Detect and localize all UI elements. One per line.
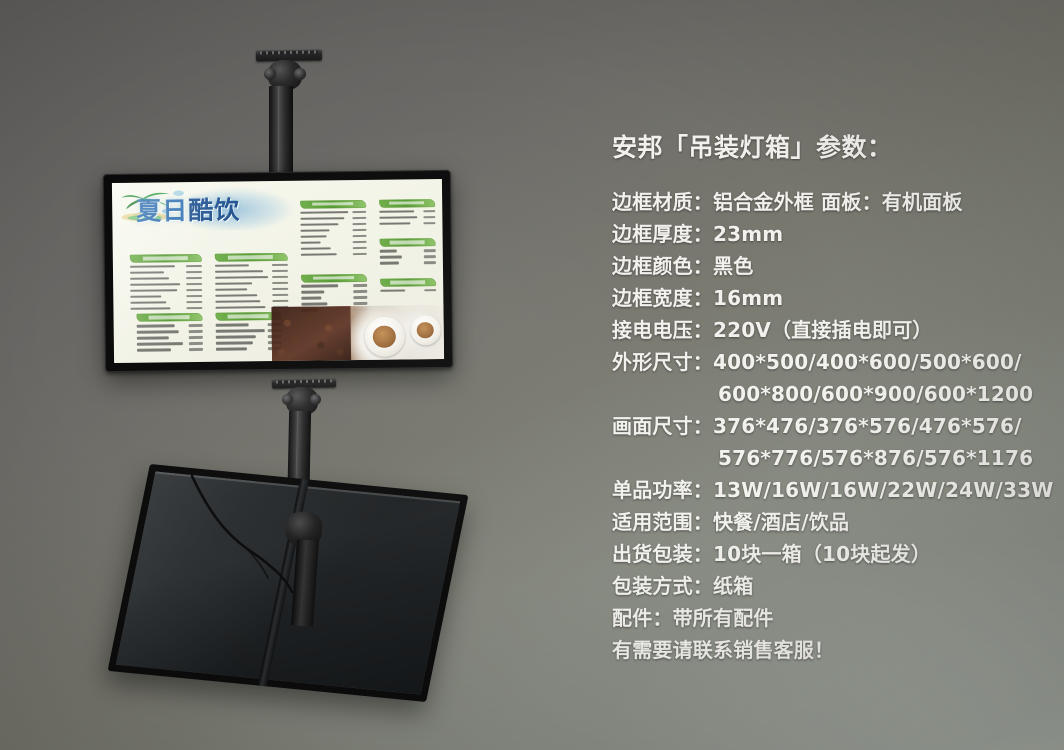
- menu-section-header: [380, 238, 436, 247]
- spec-line: 边框宽度：16mm: [612, 282, 1042, 314]
- menu-row: [129, 270, 202, 275]
- spec-panel: 安邦「吊装灯箱」参数： 边框材质：铝合金外框 面板：有机面板边框厚度：23mm边…: [612, 128, 1042, 666]
- poster-title: 夏日酷饮: [136, 191, 240, 228]
- lightbox-rear-frame: [108, 464, 469, 702]
- menu-row: [301, 240, 367, 245]
- pivot-bolt-upper-right: [294, 68, 306, 80]
- menu-section: [129, 254, 202, 313]
- spec-line: 配件：带所有配件: [612, 602, 1042, 634]
- menu-row: [130, 276, 203, 281]
- menu-item-rows: [300, 210, 367, 257]
- menu-item-rows: [380, 209, 436, 226]
- menu-row: [301, 234, 367, 239]
- coffee-liquid: [417, 322, 434, 339]
- poster-header-art: 夏日酷饮: [112, 181, 298, 248]
- menu-row: [215, 281, 288, 286]
- product-photo-scene: 夏日酷饮: [0, 0, 1064, 750]
- menu-row: [300, 216, 366, 221]
- spec-title: 安邦「吊装灯箱」参数：: [612, 128, 1042, 164]
- spec-line: 有需要请联系销售客服！: [612, 634, 1042, 666]
- poster-title-part1: 夏日: [136, 196, 188, 226]
- ceiling-plate-holes-upper: [260, 50, 318, 54]
- ceiling-lightbox-front: 夏日酷饮: [103, 170, 453, 372]
- spec-line: 单品功率：13W/16W/16W/22W/24W/33W: [612, 474, 1042, 506]
- menu-row: [301, 295, 367, 300]
- menu-row: [301, 252, 367, 257]
- pivot-bolt-lower-left: [282, 394, 293, 405]
- menu-row: [137, 335, 203, 340]
- spec-line: 画面尺寸：376*476/376*576/476*576/: [612, 410, 1042, 442]
- spec-line: 包装方式：纸箱: [612, 570, 1042, 602]
- menu-row: [380, 254, 436, 259]
- spec-line: 边框颜色：黑色: [612, 250, 1042, 282]
- spec-line-list: 边框材质：铝合金外框 面板：有机面板边框厚度：23mm边框颜色：黑色边框宽度：1…: [612, 186, 1042, 666]
- menu-row: [381, 288, 437, 293]
- spec-line: 出货包装：10块一箱（10块起发）: [612, 538, 1042, 570]
- menu-section-header: [301, 274, 367, 283]
- spec-line: 600*800/600*900/600*1200: [612, 378, 1042, 410]
- menu-row: [130, 288, 203, 293]
- menu-row: [215, 275, 288, 280]
- coffee-cup-back: [410, 315, 440, 345]
- menu-row: [380, 260, 436, 265]
- menu-row: [130, 294, 203, 299]
- menu-row: [215, 263, 288, 268]
- menu-row: [137, 347, 203, 352]
- coffee-photo-strip: [272, 305, 444, 361]
- menu-item-rows: [381, 288, 437, 293]
- menu-row: [137, 341, 203, 346]
- menu-section: [380, 278, 436, 295]
- pivot-bolt-upper-left: [264, 68, 276, 80]
- menu-row: [130, 300, 203, 305]
- menu-section-header: [379, 199, 435, 208]
- menu-row: [380, 221, 436, 226]
- menu-section-header: [380, 278, 436, 287]
- menu-row: [130, 306, 203, 311]
- menu-row: [301, 284, 367, 289]
- menu-item-rows: [129, 264, 202, 311]
- coffee-liquid: [373, 325, 396, 348]
- menu-row: [137, 329, 203, 334]
- menu-section: [300, 200, 367, 259]
- spec-line: 适用范围：快餐/酒店/饮品: [612, 506, 1042, 538]
- menu-item-rows: [380, 248, 436, 265]
- menu-row: [130, 282, 203, 287]
- mount-pole-upper: [269, 86, 293, 178]
- menu-row: [301, 246, 367, 251]
- menu-section-header: [215, 253, 288, 262]
- menu-row: [380, 248, 436, 253]
- menu-section: [380, 238, 436, 267]
- menu-row: [380, 209, 436, 214]
- menu-row: [301, 289, 367, 294]
- menu-row: [380, 215, 436, 220]
- menu-item-rows: [137, 323, 203, 352]
- menu-row: [129, 264, 202, 269]
- menu-item-rows: [215, 263, 288, 310]
- menu-section: [137, 313, 203, 354]
- rear-panel-sheen: [116, 472, 460, 695]
- coffee-beans-image: [272, 306, 352, 361]
- poster-title-part2: 酷饮: [188, 196, 240, 226]
- menu-section: [215, 253, 288, 312]
- menu-section-header: [129, 254, 202, 263]
- spec-line: 边框厚度：23mm: [612, 218, 1042, 250]
- lightbox-menu-panel: 夏日酷饮: [112, 179, 444, 363]
- menu-section-header: [137, 313, 203, 322]
- menu-row: [137, 323, 203, 328]
- spec-line: 边框材质：铝合金外框 面板：有机面板: [612, 186, 1042, 218]
- mount-pole-seam-upper: [278, 86, 279, 178]
- pivot-bolt-lower-right: [310, 394, 321, 405]
- menu-section-header: [300, 200, 366, 209]
- menu-row: [216, 299, 289, 304]
- spec-line: 接电电压：220V（直接插电即可）: [612, 314, 1042, 346]
- spec-line: 外形尺寸：400*500/400*600/500*600/: [612, 346, 1042, 378]
- menu-row: [216, 293, 289, 298]
- coffee-cup-front: [364, 316, 404, 356]
- menu-section: [379, 199, 435, 228]
- menu-row: [301, 228, 367, 233]
- menu-row: [215, 287, 288, 292]
- menu-row: [300, 210, 366, 215]
- ceiling-plate-holes-lower: [276, 379, 332, 383]
- menu-row: [215, 269, 288, 274]
- spec-line: 576*776/576*876/576*1176: [612, 442, 1042, 474]
- menu-row: [301, 222, 367, 227]
